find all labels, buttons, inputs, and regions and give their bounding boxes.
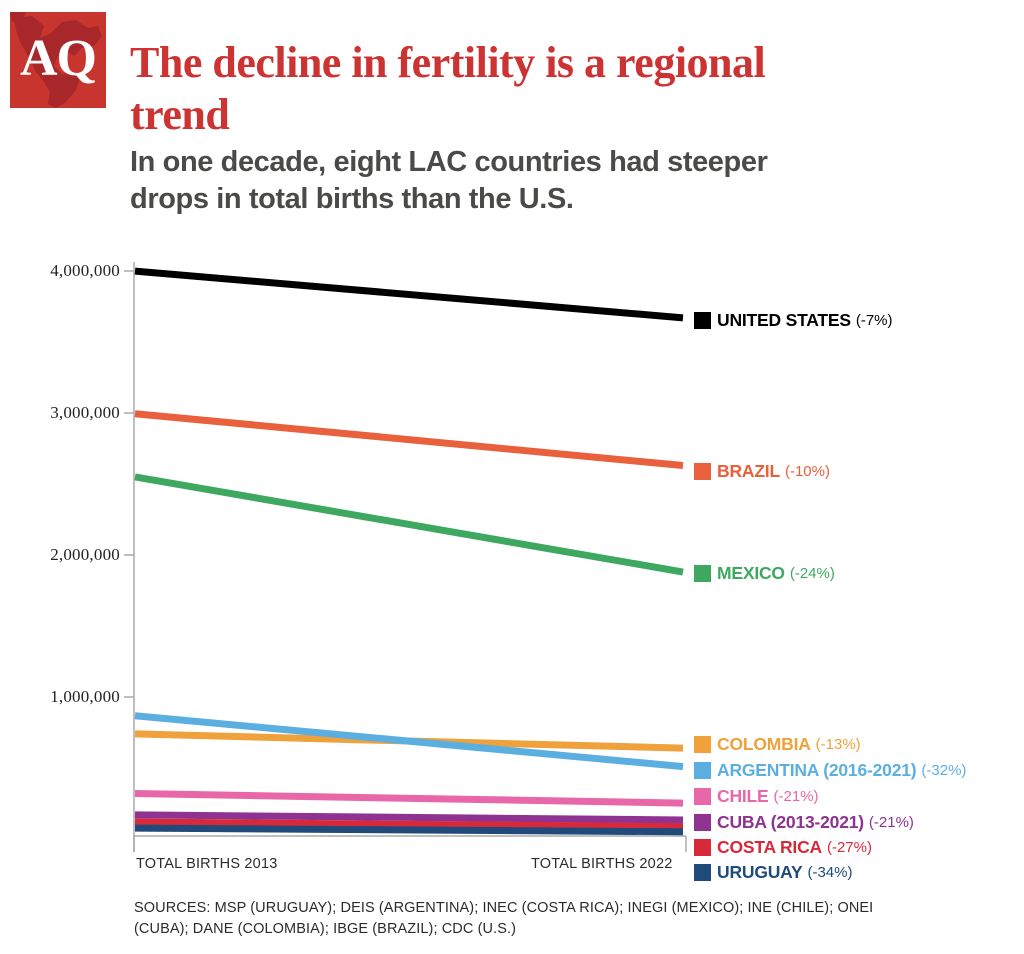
- legend-label: BRAZIL: [717, 461, 780, 482]
- series-line: [135, 794, 683, 804]
- legend-percent-change: (-32%): [921, 762, 966, 779]
- legend-swatch-icon: [694, 788, 711, 805]
- series-line: [135, 828, 683, 832]
- legend-label: URUGUAY: [717, 862, 802, 883]
- legend-item[interactable]: BRAZIL(-10%): [694, 461, 830, 482]
- legend-label: MEXICO: [717, 563, 785, 584]
- legend-label: CHILE: [717, 786, 769, 807]
- legend-item[interactable]: ARGENTINA (2016-2021)(-32%): [694, 760, 966, 781]
- legend-swatch-icon: [694, 463, 711, 480]
- legend-swatch-icon: [694, 565, 711, 582]
- series-line: [135, 716, 683, 767]
- legend-percent-change: (-13%): [816, 736, 861, 753]
- legend-percent-change: (-7%): [856, 312, 893, 329]
- y-tick-label-2m: 2,000,000: [10, 545, 120, 565]
- legend-percent-change: (-24%): [790, 565, 835, 582]
- series-line: [135, 271, 683, 318]
- legend-percent-change: (-21%): [869, 814, 914, 831]
- series-line: [135, 477, 683, 572]
- legend-label: ARGENTINA (2016-2021): [717, 760, 916, 781]
- legend-item[interactable]: URUGUAY(-34%): [694, 862, 852, 883]
- legend-label: COLOMBIA: [717, 734, 811, 755]
- x-tick-label-2013: TOTAL BIRTHS 2013: [136, 856, 277, 872]
- legend-item[interactable]: COLOMBIA(-13%): [694, 734, 861, 755]
- legend-item[interactable]: COSTA RICA(-27%): [694, 837, 872, 858]
- legend-percent-change: (-10%): [785, 463, 830, 480]
- y-tick-label-1m: 1,000,000: [10, 687, 120, 707]
- legend-percent-change: (-21%): [774, 788, 819, 805]
- legend-swatch-icon: [694, 312, 711, 329]
- series-lines: [135, 271, 683, 832]
- legend-item[interactable]: CHILE(-21%): [694, 786, 819, 807]
- legend-swatch-icon: [694, 736, 711, 753]
- series-line: [135, 414, 683, 466]
- legend-swatch-icon: [694, 762, 711, 779]
- legend-item[interactable]: CUBA (2013-2021)(-21%): [694, 812, 914, 833]
- sources-note: SOURCES: MSP (URUGUAY); DEIS (ARGENTINA)…: [134, 898, 894, 940]
- legend-swatch-icon: [694, 839, 711, 856]
- x-tick-label-2022: TOTAL BIRTHS 2022: [531, 856, 672, 872]
- legend-swatch-icon: [694, 864, 711, 881]
- legend-percent-change: (-34%): [807, 864, 852, 881]
- y-tick-label-3m: 3,000,000: [10, 403, 120, 423]
- legend-item[interactable]: MEXICO(-24%): [694, 563, 835, 584]
- legend-item[interactable]: UNITED STATES(-7%): [694, 310, 893, 331]
- chart-plot-area: [0, 0, 1024, 954]
- legend-label: CUBA (2013-2021): [717, 812, 864, 833]
- legend-percent-change: (-27%): [827, 839, 872, 856]
- line-chart: 4,000,000 3,000,000 2,000,000 1,000,000 …: [0, 0, 1024, 954]
- legend-swatch-icon: [694, 814, 711, 831]
- legend-label: COSTA RICA: [717, 837, 822, 858]
- y-tick-label-4m: 4,000,000: [10, 261, 120, 281]
- infographic-page: AQ The decline in fertility is a regiona…: [0, 0, 1024, 954]
- legend-label: UNITED STATES: [717, 310, 851, 331]
